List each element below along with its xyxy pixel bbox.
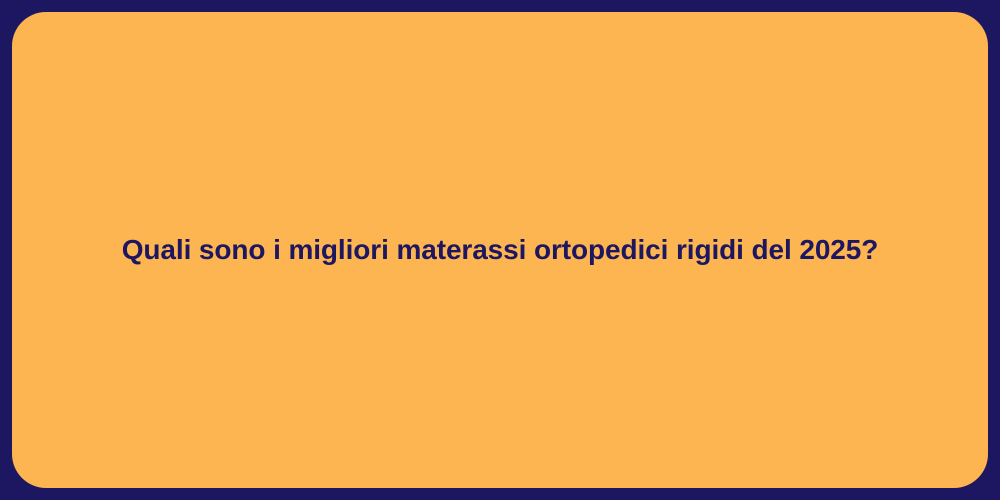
banner-canvas: Quali sono i migliori materassi ortopedi… <box>0 0 1000 500</box>
banner-card: Quali sono i migliori materassi ortopedi… <box>12 12 988 488</box>
page-title: Quali sono i migliori materassi ortopedi… <box>122 232 879 269</box>
